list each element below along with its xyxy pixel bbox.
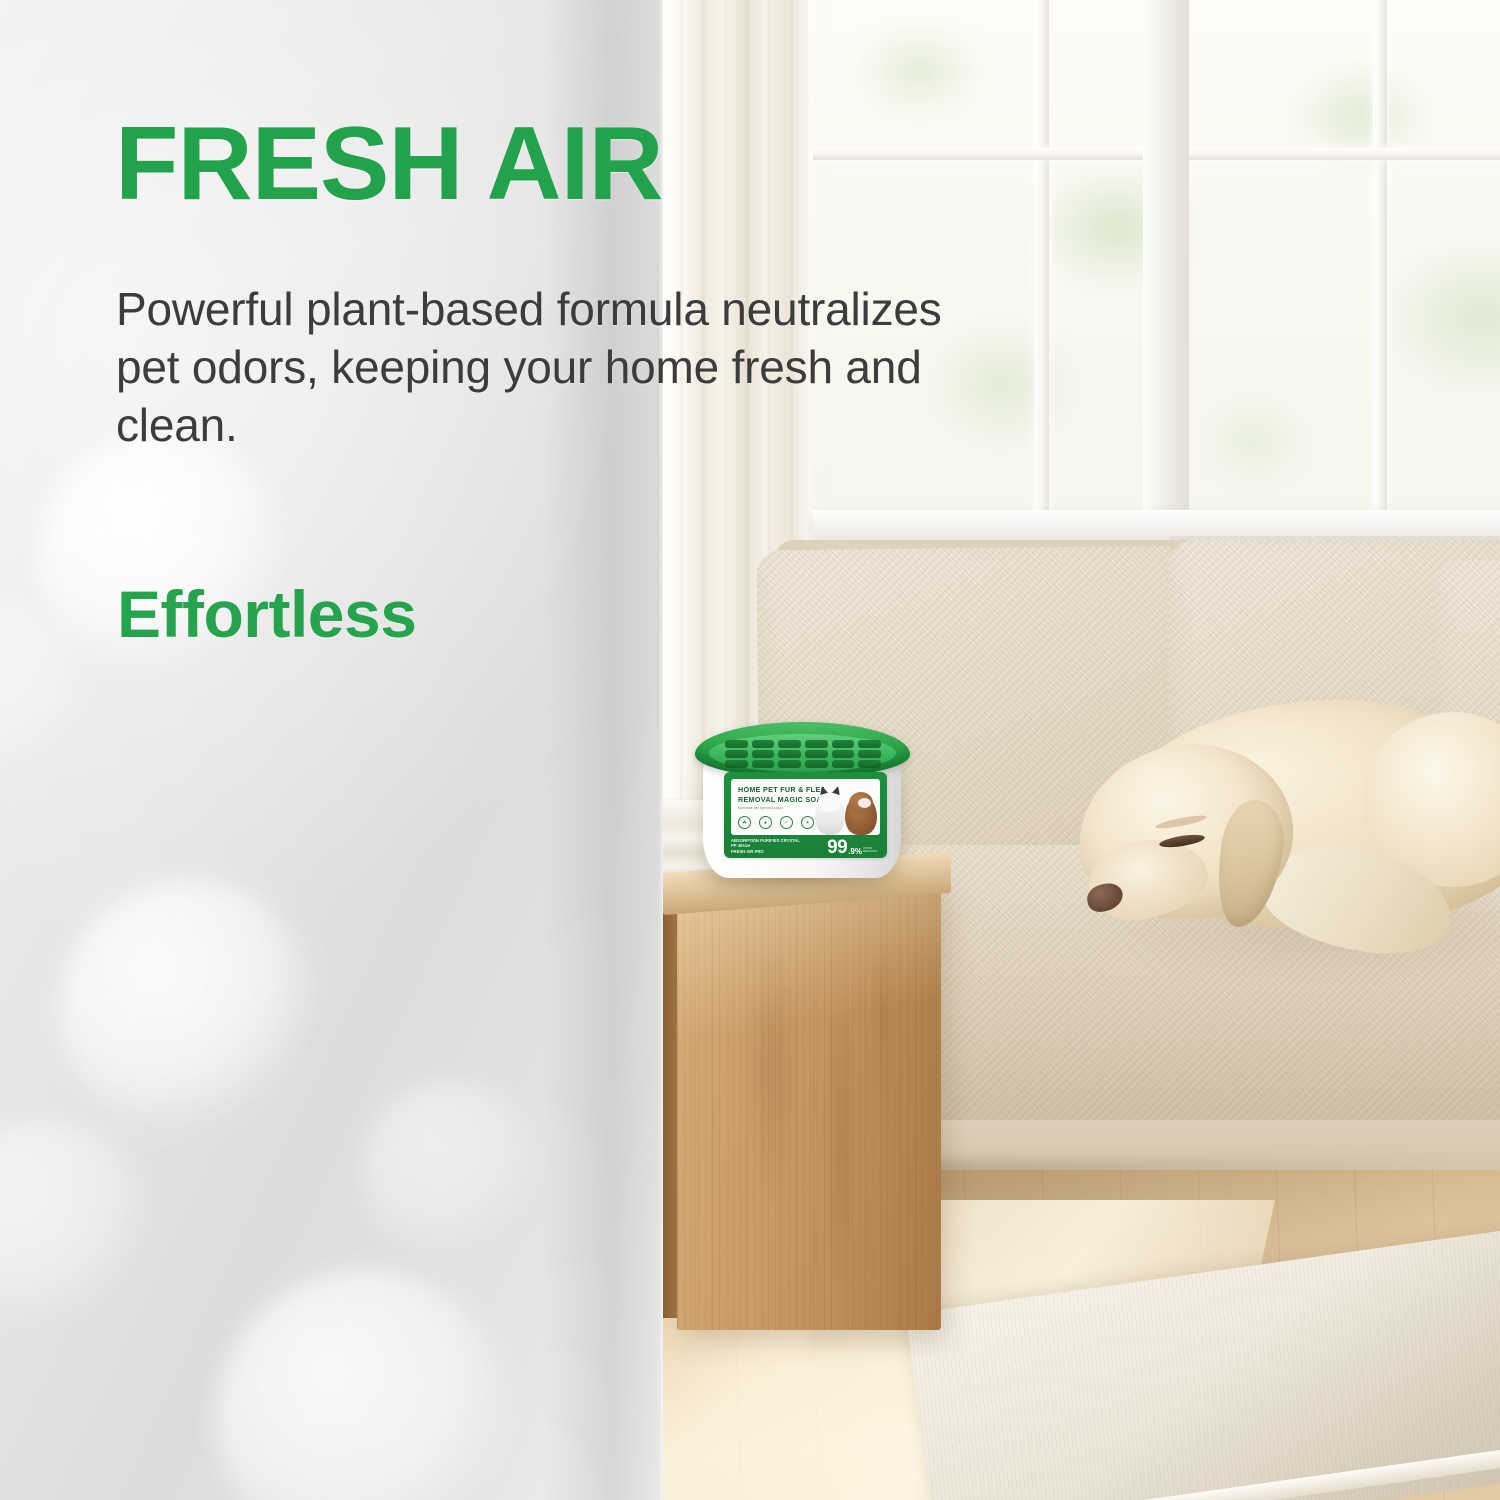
shield-icon: ✓ — [780, 816, 793, 829]
bokeh-light-icon — [360, 1080, 540, 1260]
vent-slot-icon — [832, 760, 855, 768]
bokeh-light-icon — [0, 600, 90, 780]
lifestyle-photo: HOME PET FUR & FLEA REMOVAL MAGIC SOAP E… — [663, 0, 1500, 1500]
footer-line-1: ABSORPTION PURIFIES CRYSTAL — [731, 838, 800, 843]
vent-slot-icon — [858, 760, 881, 768]
panel-shading — [545, 0, 665, 1500]
vent-slot-icon — [832, 740, 855, 748]
banner-subcopy: Powerful plant-based formula neutralizes… — [116, 280, 976, 454]
vent-slot-icon — [752, 740, 775, 748]
product-label: HOME PET FUR & FLEA REMOVAL MAGIC SOAP E… — [724, 772, 887, 858]
poodle-image — [845, 795, 877, 835]
vent-slot-icon — [805, 760, 828, 768]
banner-stage: HOME PET FUR & FLEA REMOVAL MAGIC SOAP E… — [0, 0, 1500, 1500]
product-lid[interactable] — [695, 722, 910, 778]
paw-icon: ☀ — [801, 816, 814, 829]
vent-slot-icon — [778, 750, 801, 758]
vent-slot-icon — [805, 740, 828, 748]
poodle-head — [849, 792, 873, 814]
vent-slot-icon — [858, 740, 881, 748]
vent-slot-icon — [752, 750, 775, 758]
cat-ear-icon — [832, 785, 842, 795]
poodle-face — [858, 798, 871, 808]
window-center-post — [1143, 0, 1189, 530]
footer-line-3: FRESH AIR PRO — [731, 849, 764, 854]
lid-vent-grid — [725, 740, 881, 768]
badge-decimal: .9% — [848, 848, 862, 856]
badge-value: 99 — [827, 839, 847, 856]
droplet-icon: ● — [759, 816, 772, 829]
product-label-footer: ABSORPTION PURIFIES CRYSTAL PP 40size FR… — [731, 838, 827, 854]
efficacy-badge: 99 .9% ODOR REMOVAL — [827, 839, 881, 856]
product-label-title-line1: HOME PET FUR & FLEA — [738, 785, 826, 794]
leaf-icon: ☘ — [738, 816, 751, 829]
banner-subheadline: Effortless — [117, 578, 416, 650]
vent-slot-icon — [805, 750, 828, 758]
window-sill — [813, 510, 1500, 536]
bokeh-light-icon — [0, 1120, 150, 1330]
vent-slot-icon — [725, 750, 748, 758]
bokeh-light-icon — [60, 880, 320, 1140]
vent-slot-icon — [752, 760, 775, 768]
vent-slot-icon — [858, 750, 881, 758]
vent-slot-icon — [725, 740, 748, 748]
left-text-panel — [0, 0, 665, 1500]
product-feature-icons: ☘ ● ✓ ☀ — [738, 816, 814, 829]
vent-slot-icon — [778, 740, 801, 748]
cat-image — [815, 793, 845, 835]
product-label-title-line2: REMOVAL MAGIC SOAP — [738, 795, 827, 804]
window-mullion-vertical — [1035, 0, 1049, 530]
window-mullion-vertical — [1373, 0, 1387, 530]
page-title: FRESH AIR — [115, 112, 663, 216]
footer-line-2: PP 40size — [731, 843, 750, 848]
product-label-panel: HOME PET FUR & FLEA REMOVAL MAGIC SOAP E… — [731, 779, 880, 835]
bokeh-light-icon — [215, 1270, 515, 1500]
product-pet-photo — [815, 785, 877, 835]
vent-slot-icon — [725, 760, 748, 768]
badge-caption: ODOR REMOVAL — [863, 847, 881, 854]
vent-slot-icon — [778, 760, 801, 768]
product-container[interactable]: HOME PET FUR & FLEA REMOVAL MAGIC SOAP E… — [695, 714, 910, 879]
vent-slot-icon — [832, 750, 855, 758]
